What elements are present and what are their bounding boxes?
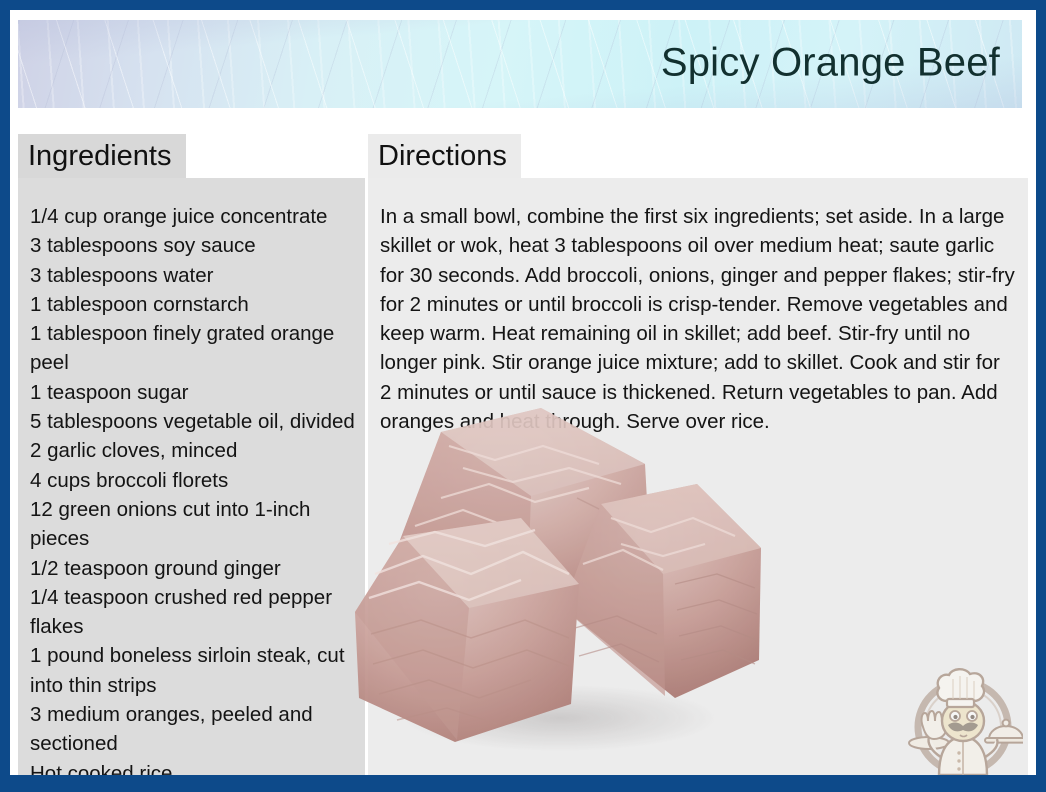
list-item: 3 tablespoons water [30, 261, 355, 290]
chef-hat-icon [937, 669, 984, 707]
list-item: 1/4 cup orange juice concentrate [30, 202, 355, 231]
list-item: 1/4 teaspoon crushed red pepper flakes [30, 583, 355, 642]
recipe-title: Spicy Orange Beef [661, 41, 1000, 86]
list-item: 5 tablespoons vegetable oil, divided [30, 407, 355, 436]
list-item: 3 medium oranges, peeled and sectioned [30, 700, 355, 759]
ingredients-heading: Ingredients [18, 134, 186, 178]
ingredients-panel: 1/4 cup orange juice concentrate 3 table… [18, 178, 365, 775]
list-item: 12 green onions cut into 1-inch pieces [30, 495, 355, 554]
cloche-icon [985, 720, 1023, 743]
list-item: 4 cups broccoli florets [30, 466, 355, 495]
list-item: 1 tablespoon cornstarch [30, 290, 355, 319]
directions-heading: Directions [368, 134, 521, 178]
title-banner: Spicy Orange Beef [18, 20, 1022, 108]
list-item: 1 tablespoon finely grated orange peel [30, 319, 355, 378]
ingredients-list: 1/4 cup orange juice concentrate 3 table… [30, 202, 355, 775]
list-item: 1 pound boneless sirloin steak, cut into… [30, 641, 355, 700]
list-item: Hot cooked rice [30, 759, 355, 775]
list-item: 2 garlic cloves, minced [30, 436, 355, 465]
beef-cube-front [355, 518, 579, 742]
list-item: 1 teaspoon sugar [30, 378, 355, 407]
recipe-slide: Spicy Orange Beef Ingredients 1/4 cup or… [0, 0, 1046, 792]
chef-logo [903, 665, 1023, 775]
beef-photo [345, 398, 765, 770]
list-item: 3 tablespoons soy sauce [30, 231, 355, 260]
recipe-page: Spicy Orange Beef Ingredients 1/4 cup or… [10, 10, 1036, 775]
list-item: 1/2 teaspoon ground ginger [30, 554, 355, 583]
